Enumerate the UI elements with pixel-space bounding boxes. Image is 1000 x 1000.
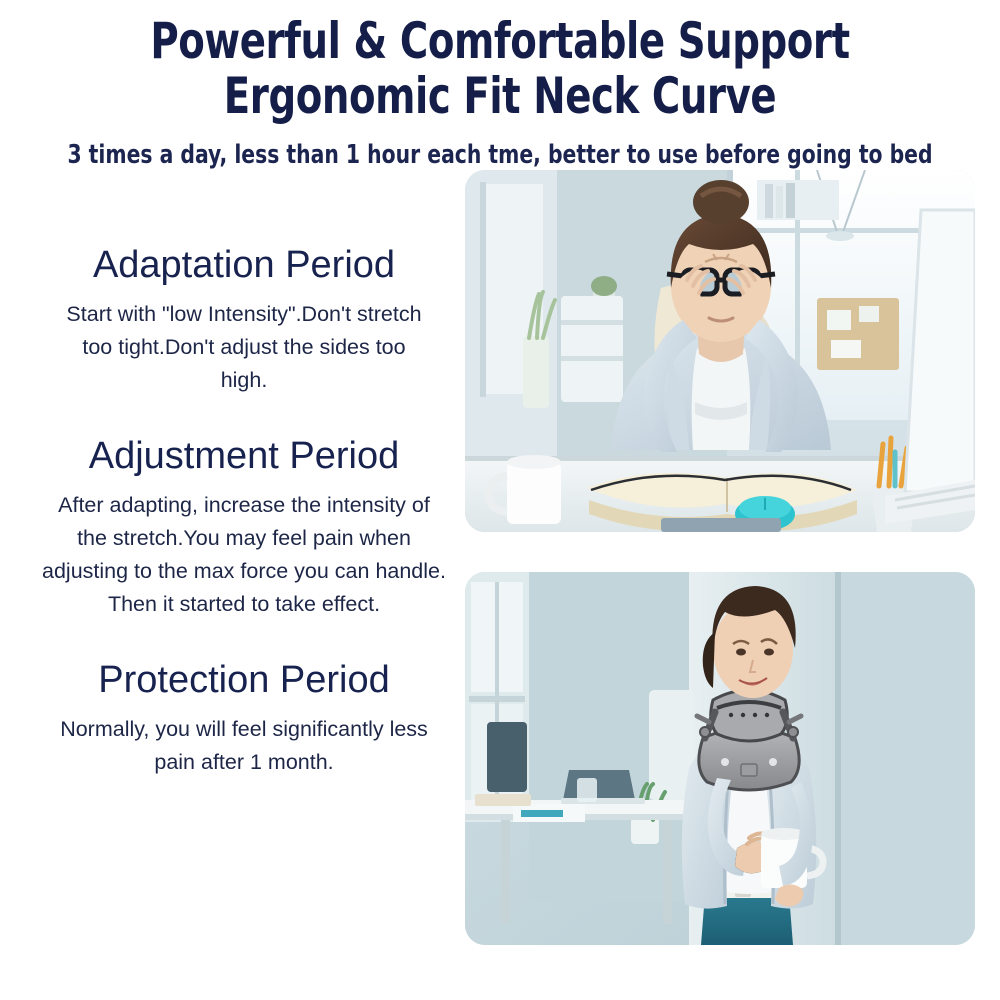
section-title: Protection Period: [34, 657, 454, 703]
headline-line-2: Ergonomic Fit Neck Curve: [70, 69, 930, 124]
section-adaptation-period: Adaptation Period Start with "low Intens…: [34, 242, 454, 397]
section-body: After adapting, increase the intensity o…: [34, 489, 454, 621]
section-body: Normally, you will feel significantly le…: [34, 713, 454, 779]
section-title: Adjustment Period: [34, 433, 454, 479]
section-protection-period: Protection Period Normally, you will fee…: [34, 657, 454, 779]
headline-line-1: Powerful & Comfortable Support: [70, 14, 930, 69]
photo-bottom-illustration: [465, 572, 975, 945]
usage-instruction-subheadline: 3 times a day, less than 1 hour each tme…: [65, 140, 935, 170]
photo-woman-with-neck-pain: [465, 170, 975, 532]
photo-top-illustration: [465, 170, 975, 532]
section-title: Adaptation Period: [34, 242, 454, 288]
section-adjustment-period: Adjustment Period After adapting, increa…: [34, 433, 454, 621]
section-body: Start with "low Intensity".Don't stretch…: [34, 298, 454, 397]
content-area: Adaptation Period Start with "low Intens…: [0, 170, 1000, 980]
photo-woman-wearing-neck-collar: [465, 572, 975, 945]
header: Powerful & Comfortable Support Ergonomic…: [0, 0, 1000, 170]
instructions-column: Adaptation Period Start with "low Intens…: [34, 242, 454, 779]
